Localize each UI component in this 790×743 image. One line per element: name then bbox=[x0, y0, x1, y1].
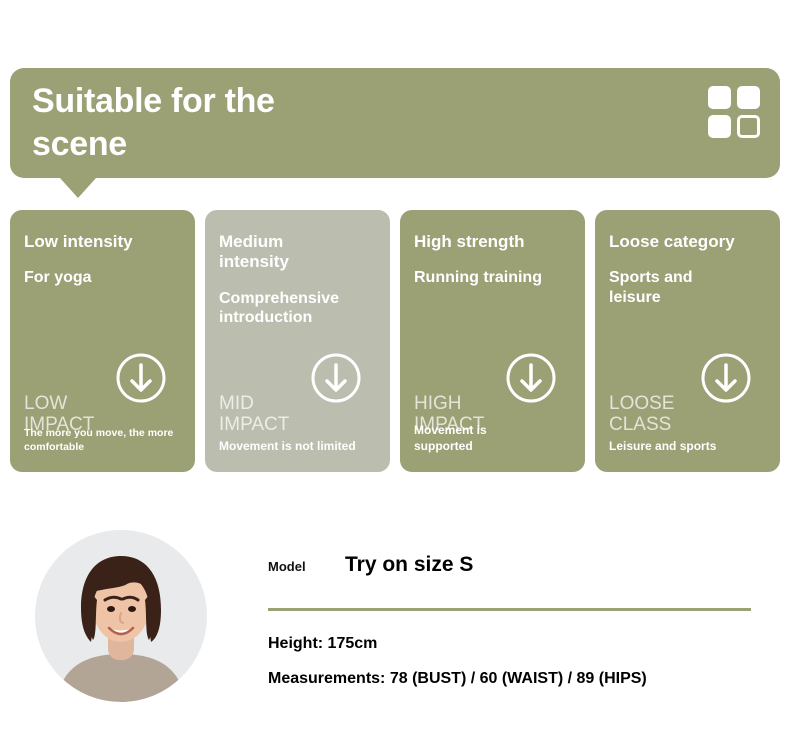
card-medium-intensity[interactable]: Medium intensity Comprehensive introduct… bbox=[205, 210, 390, 472]
banner-pointer-triangle bbox=[60, 178, 96, 198]
model-size-row: Model Try on size S bbox=[268, 553, 768, 583]
card-title: Medium intensity bbox=[219, 232, 376, 273]
arrow-down-circle-icon bbox=[310, 352, 362, 404]
model-portrait-avatar bbox=[35, 530, 207, 702]
grid-four-squares-icon bbox=[708, 86, 762, 140]
grid-square-top-left bbox=[708, 86, 731, 109]
model-measurements: Measurements: 78 (BUST) / 60 (WAIST) / 8… bbox=[268, 670, 768, 688]
card-high-strength[interactable]: High strength Running training HIGH IMPA… bbox=[400, 210, 585, 472]
card-low-intensity[interactable]: Low intensity For yoga LOW IMPACT The mo… bbox=[10, 210, 195, 472]
grid-square-bottom-right-outline bbox=[737, 115, 760, 138]
card-note: The more you move, the more comfortable bbox=[24, 426, 186, 454]
grid-square-top-right bbox=[737, 86, 760, 109]
arrow-down-circle-icon bbox=[115, 352, 167, 404]
card-note: Leisure and sports bbox=[609, 438, 771, 454]
card-impact-label: LOOSE CLASS bbox=[609, 393, 674, 436]
model-details: Model Try on size S Height: 175cm Measur… bbox=[268, 553, 768, 688]
card-loose-category[interactable]: Loose category Sports and leisure LOOSE … bbox=[595, 210, 780, 472]
card-subtitle: Sports and leisure bbox=[609, 268, 766, 306]
header-banner: Suitable for the scene bbox=[10, 68, 780, 178]
intensity-cards-row: Low intensity For yoga LOW IMPACT The mo… bbox=[10, 210, 780, 472]
model-size-value: Try on size S bbox=[345, 553, 473, 577]
page-title: Suitable for the scene bbox=[32, 80, 472, 165]
model-height: Height: 175cm bbox=[268, 635, 768, 653]
model-info-section: Model Try on size S Height: 175cm Measur… bbox=[0, 515, 790, 715]
card-subtitle: For yoga bbox=[24, 268, 181, 287]
card-note: Movement is supported bbox=[414, 422, 576, 454]
arrow-down-circle-icon bbox=[700, 352, 752, 404]
header-banner-wrapper: Suitable for the scene bbox=[10, 68, 780, 178]
card-title: High strength bbox=[414, 232, 571, 252]
card-note: Movement is not limited bbox=[219, 438, 381, 454]
model-label: Model bbox=[268, 559, 345, 574]
grid-square-bottom-left bbox=[708, 115, 731, 138]
card-title: Loose category bbox=[609, 232, 766, 252]
card-subtitle: Comprehensive introduction bbox=[219, 289, 376, 327]
card-subtitle: Running training bbox=[414, 268, 571, 287]
card-impact-label: MID IMPACT bbox=[219, 393, 289, 436]
card-title: Low intensity bbox=[24, 232, 181, 252]
model-divider bbox=[268, 608, 751, 611]
arrow-down-circle-icon bbox=[505, 352, 557, 404]
